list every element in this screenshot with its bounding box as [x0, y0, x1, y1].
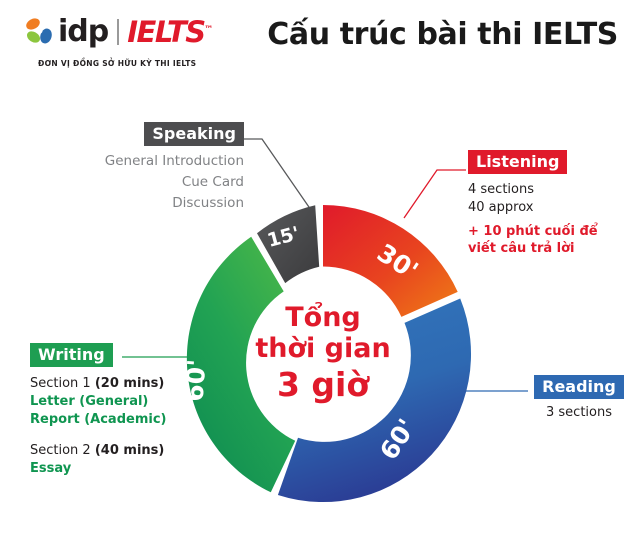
- callout-reading: Reading 3 sections: [524, 375, 634, 421]
- speaking-detail-3: Discussion: [84, 194, 244, 213]
- logo-tagline: ĐƠN VỊ ĐỒNG SỞ HỮU KỲ THI IELTS: [38, 59, 214, 68]
- listening-note-2: viết câu trả lời: [468, 240, 632, 257]
- logo-row: idp IELTS ™: [24, 14, 214, 50]
- writing-badge[interactable]: Writing: [30, 343, 113, 367]
- idp-ielts-logo: idp IELTS ™ ĐƠN VỊ ĐỒNG SỞ HỮU KỲ THI IE…: [24, 14, 214, 70]
- speaking-badge[interactable]: Speaking: [144, 122, 244, 146]
- listening-detail-2: 40 approx: [468, 199, 632, 216]
- writing-section2-heading: Section 2 (40 mins): [30, 442, 205, 460]
- writing-section1-prefix: Section 1: [30, 376, 95, 391]
- idp-wordmark: idp: [58, 17, 108, 47]
- callout-writing: Writing Section 1 (20 mins) Letter (Gene…: [30, 343, 205, 478]
- trademark-symbol: ™: [204, 16, 212, 45]
- writing-section2-duration: (40 mins): [95, 443, 165, 458]
- writing-section1-item-2: Report (Academic): [30, 411, 205, 429]
- donut-segment-reading[interactable]: [278, 299, 471, 503]
- speaking-detail-2: Cue Card: [84, 173, 244, 192]
- listening-detail-1: 4 sections: [468, 181, 632, 198]
- callout-speaking: Speaking General Introduction Cue Card D…: [84, 122, 244, 213]
- idp-petal-mark-icon: [24, 16, 56, 48]
- writing-section1-duration: (20 mins): [95, 376, 165, 391]
- ielts-wordmark: IELTS ™: [127, 18, 204, 47]
- writing-section2-item-1: Essay: [30, 460, 205, 478]
- writing-section1-heading: Section 1 (20 mins): [30, 375, 205, 393]
- writing-section2-prefix: Section 2: [30, 443, 95, 458]
- reading-detail-1: 3 sections: [524, 404, 634, 421]
- logo-divider: [117, 19, 119, 45]
- callout-listening: Listening 4 sections 40 approx + 10 phút…: [468, 150, 632, 257]
- page-title: Cấu trúc bài thi IELTS: [267, 17, 618, 52]
- listening-badge[interactable]: Listening: [468, 150, 567, 174]
- ielts-wordmark-text: IELTS: [127, 15, 204, 49]
- writing-section1-item-1: Letter (General): [30, 393, 205, 411]
- ielts-duration-donut-chart: 30' 60' 60' 15': [168, 198, 478, 508]
- speaking-detail-1: General Introduction: [84, 152, 244, 171]
- listening-note-1: + 10 phút cuối để: [468, 223, 632, 240]
- reading-badge[interactable]: Reading: [534, 375, 624, 399]
